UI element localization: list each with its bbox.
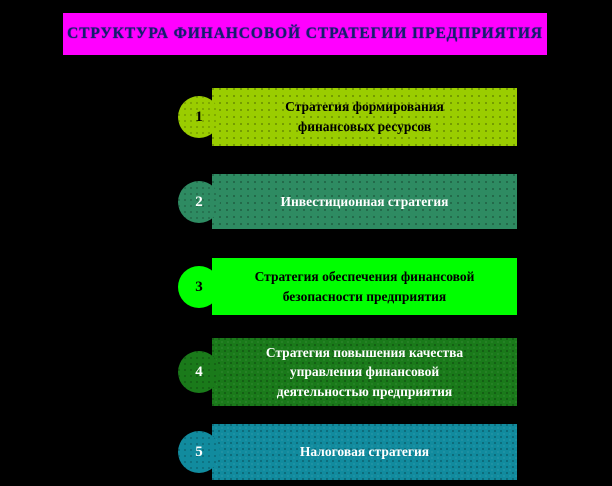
strategy-box[interactable]: Стратегия обеспечения финансовой безопас… xyxy=(212,258,517,315)
strategy-label: Инвестиционная стратегия xyxy=(271,192,459,212)
strategy-number-badge[interactable]: 1 xyxy=(178,96,220,138)
strategy-number-badge[interactable]: 3 xyxy=(178,266,220,308)
strategy-number-badge[interactable]: 2 xyxy=(178,181,220,223)
strategy-box[interactable]: Налоговая стратегия xyxy=(212,424,517,480)
strategy-label: Стратегия повышения качества управления … xyxy=(256,343,473,402)
strategy-number: 3 xyxy=(195,280,203,295)
slide-title-banner: СТРУКТУРА ФИНАНСОВОЙ СТРАТЕГИИ ПРЕДПРИЯТ… xyxy=(62,12,548,56)
strategy-number: 2 xyxy=(195,195,203,210)
strategy-label: Стратегия формирования финансовых ресурс… xyxy=(275,97,454,136)
page-title: СТРУКТУРА ФИНАНСОВОЙ СТРАТЕГИИ ПРЕДПРИЯТ… xyxy=(67,25,543,43)
strategy-number-badge[interactable]: 4 xyxy=(178,351,220,393)
strategy-label: Налоговая стратегия xyxy=(290,442,439,462)
strategy-box[interactable]: Инвестиционная стратегия xyxy=(212,174,517,229)
strategy-box[interactable]: Стратегия формирования финансовых ресурс… xyxy=(212,88,517,146)
slide-canvas: СТРУКТУРА ФИНАНСОВОЙ СТРАТЕГИИ ПРЕДПРИЯТ… xyxy=(0,0,612,486)
strategy-number: 5 xyxy=(195,445,203,460)
strategy-label: Стратегия обеспечения финансовой безопас… xyxy=(245,267,485,306)
strategy-number-badge[interactable]: 5 xyxy=(178,431,220,473)
strategy-box[interactable]: Стратегия повышения качества управления … xyxy=(212,338,517,406)
strategy-number: 4 xyxy=(195,365,203,380)
strategy-number: 1 xyxy=(195,110,203,125)
